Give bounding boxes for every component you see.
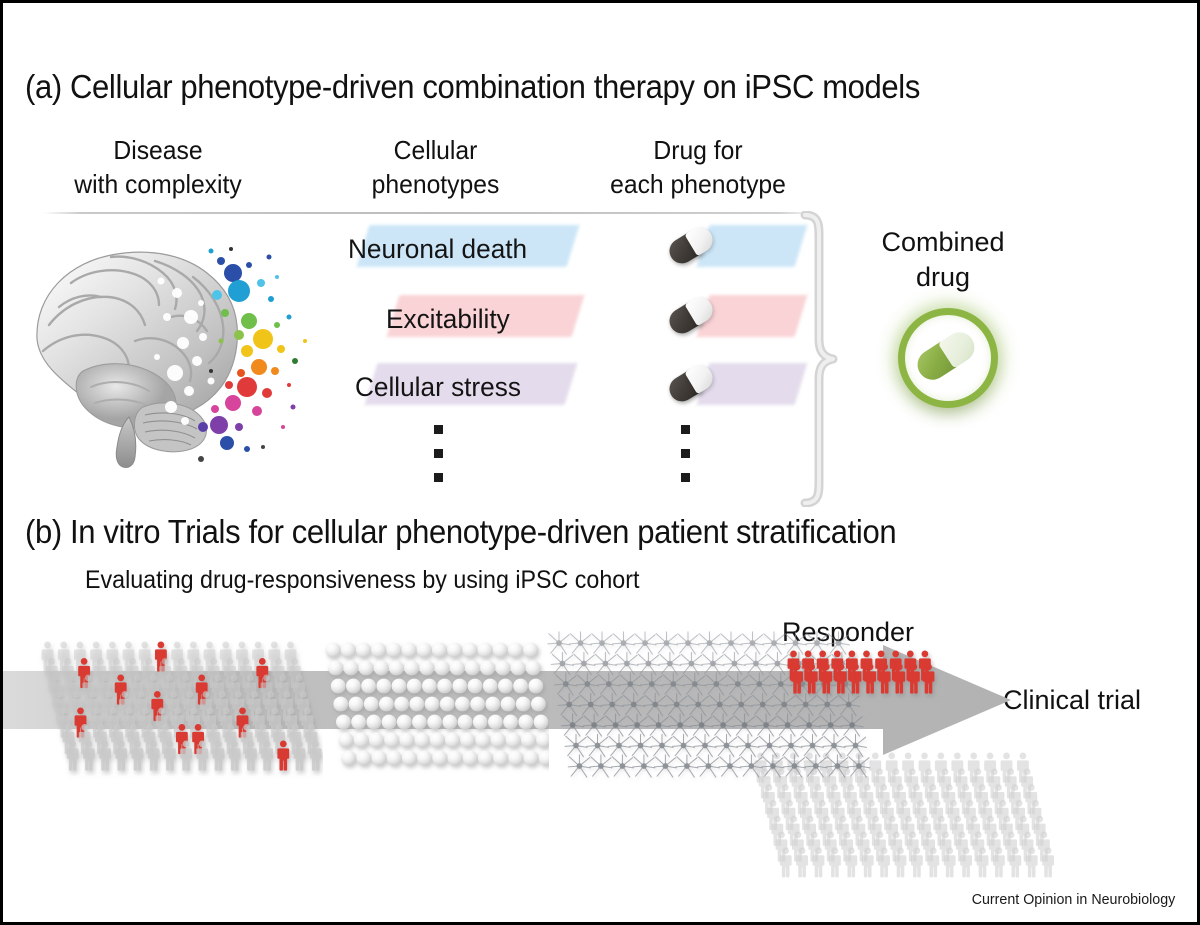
column-header-disease-line2: with complexity [39, 167, 277, 201]
panel-b-title: (b) In vitro Trials for cellular phenoty… [25, 513, 896, 551]
person-crowd-icon-cohort [33, 635, 323, 785]
column-header-disease-line1: Disease [39, 133, 277, 167]
panel-a-title: (a) Cellular phenotype-driven combinatio… [25, 68, 920, 106]
phenotype-label-2: Cellular stress [355, 372, 521, 403]
curly-brace-icon [795, 211, 839, 507]
combined-drug-label: Combined drug [848, 225, 1038, 295]
column-header-drug: Drug for each phenotype [579, 133, 817, 202]
figure-canvas: (a) Cellular phenotype-driven combinatio… [0, 0, 1200, 925]
column-header-disease: Disease with complexity [39, 133, 277, 202]
panel-b-subtitle: Evaluating drug-responsiveness by using … [85, 566, 639, 595]
phenotype-label-0: Neuronal death [348, 234, 527, 265]
column-header-phenotypes: Cellular phenotypes [324, 133, 547, 202]
vertical-ellipsis-drugs [681, 425, 690, 482]
column-header-drug-line2: each phenotype [579, 167, 817, 201]
combined-drug-label-line2: drug [848, 260, 1038, 295]
column-header-drug-line1: Drug for [579, 133, 817, 167]
journal-credit: Current Opinion in Neurobiology [971, 891, 1175, 908]
person-row-icon-responders [783, 648, 943, 710]
column-header-phenotypes-line1: Cellular [324, 133, 547, 167]
header-divider [43, 212, 818, 214]
sphere-grid-icon [321, 637, 549, 782]
column-header-phenotypes-line2: phenotypes [324, 167, 547, 201]
brain-splatter-icon [25, 221, 325, 471]
vertical-ellipsis-phenotypes [434, 425, 443, 482]
clinical-trial-label: Clinical trial [1003, 683, 1200, 718]
combined-drug-label-line1: Combined [848, 225, 1038, 260]
phenotype-label-1: Excitability [386, 304, 510, 335]
